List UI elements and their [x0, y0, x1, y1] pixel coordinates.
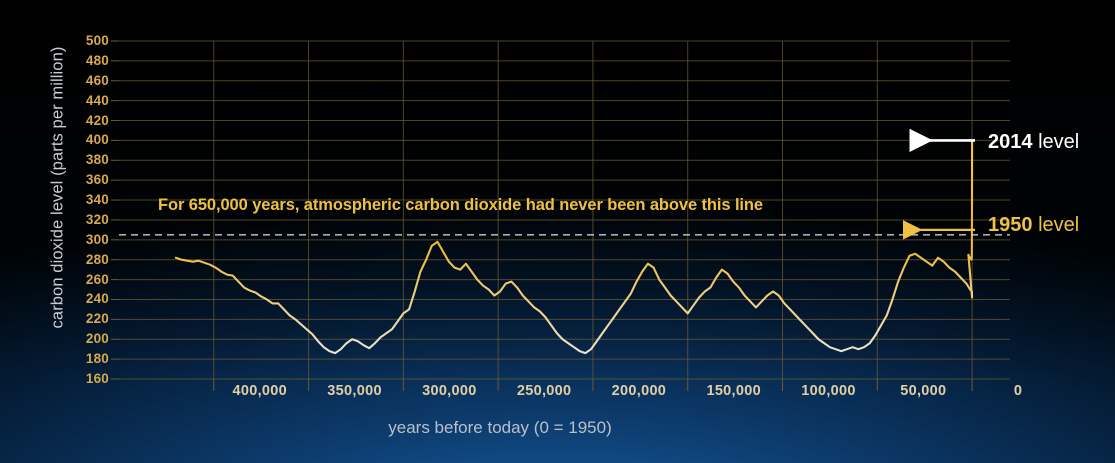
label-2014-word: level [1038, 131, 1079, 153]
chart-container: carbon dioxide level (parts per million)… [0, 0, 1115, 463]
co2-data-line [176, 140, 972, 353]
label-2014-year: 2014 [988, 131, 1033, 153]
label-2014-level: 2014 level [988, 131, 1079, 154]
tick-marks [111, 41, 972, 391]
label-1950-year: 1950 [988, 214, 1033, 236]
threshold-annotation-text: For 650,000 years, atmospheric carbon di… [158, 196, 763, 215]
plot-area [0, 0, 1115, 463]
label-1950-level: 1950 level [988, 214, 1079, 237]
label-1950-word: level [1038, 214, 1079, 236]
